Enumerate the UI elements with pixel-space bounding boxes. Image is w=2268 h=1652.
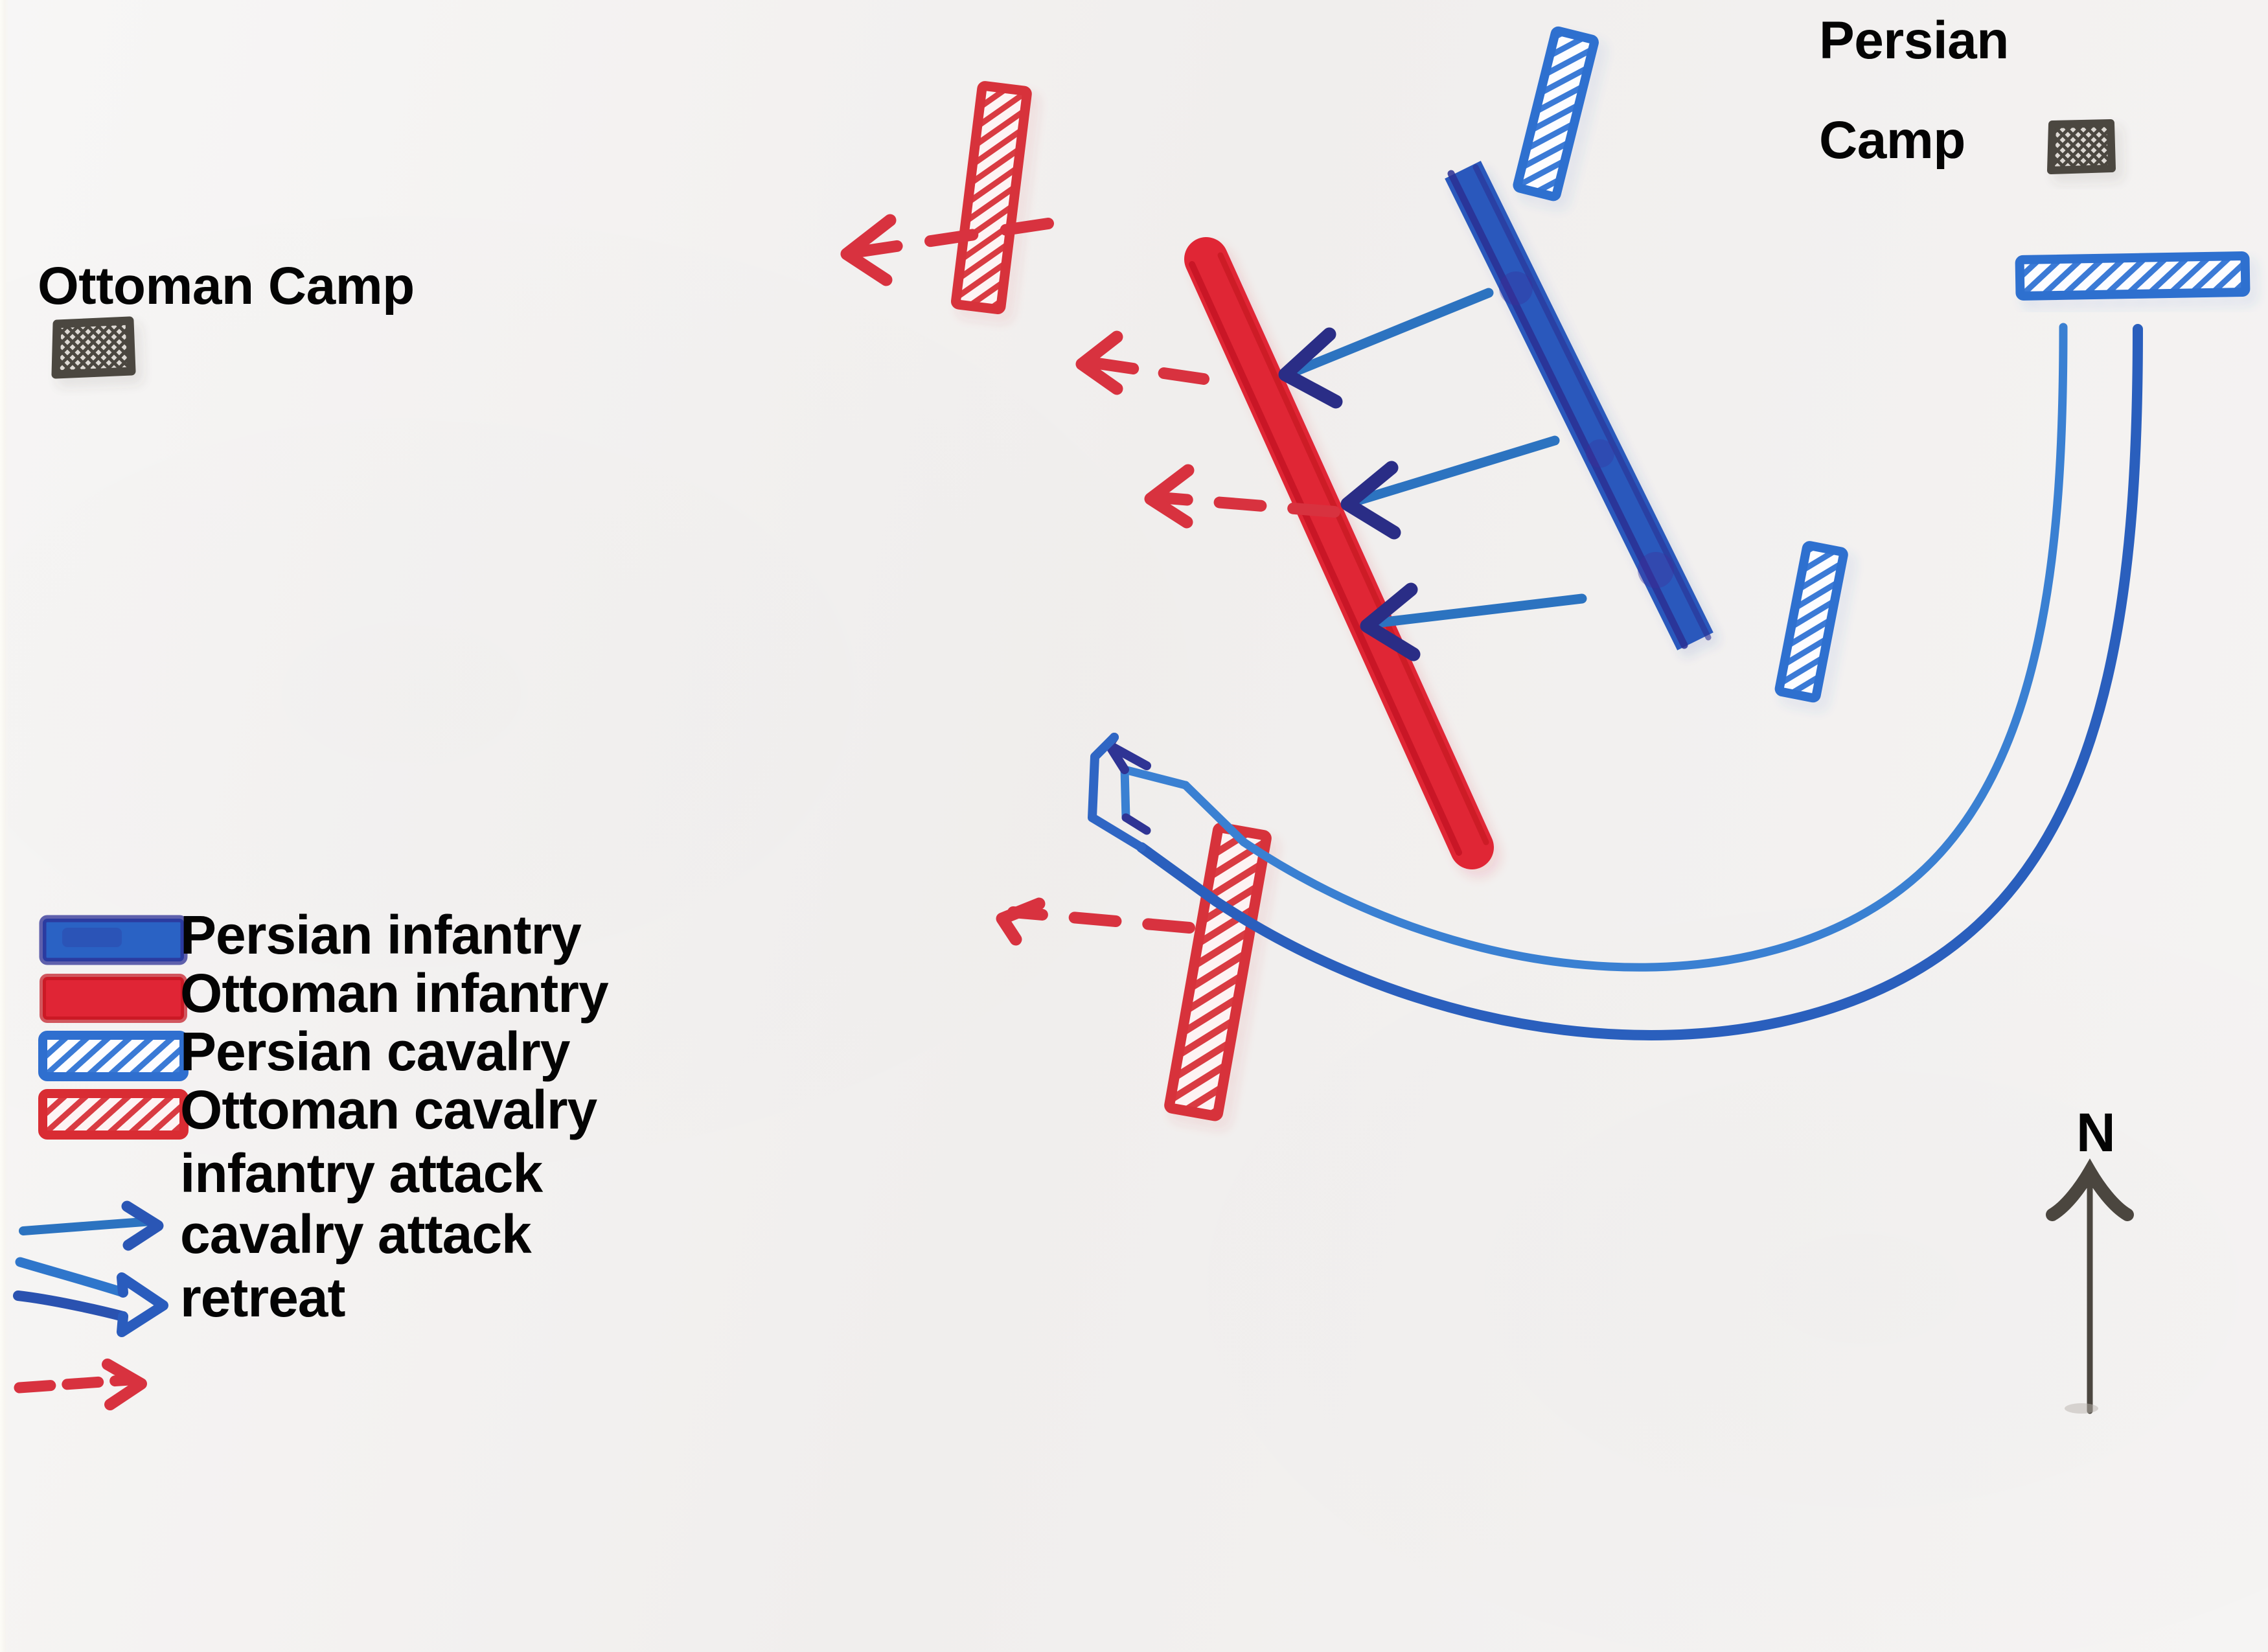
legend-icon-persian-infantry-swatch xyxy=(43,919,184,961)
persian-camp-marker xyxy=(2051,123,2112,170)
legend-icon-persian-cavalry-swatch xyxy=(43,1035,184,1077)
legend-icon-ottoman-infantry-swatch xyxy=(43,977,184,1020)
legend-label-infantry-attack: infantry attack xyxy=(180,1142,542,1205)
unit-ottoman-cavalry-south xyxy=(1169,827,1266,1117)
legend-symbols xyxy=(18,919,184,1405)
ottoman-camp-label: Ottoman Camp xyxy=(38,256,415,317)
legend-label-persian-cavalry: Persian cavalry xyxy=(180,1020,569,1083)
persian-camp-label-line2: Camp xyxy=(1819,110,1965,171)
map-drawing-layer xyxy=(0,0,2268,1652)
unit-ottoman-cavalry-north xyxy=(956,86,1027,310)
persian-camp-label-line1: Persian xyxy=(1819,10,2009,71)
north-arrow-icon xyxy=(2052,1171,2127,1414)
retreat-arrow-1 xyxy=(847,220,1048,280)
unit-persian-cavalry-mid xyxy=(1779,545,1844,698)
legend-label-cavalry-attack: cavalry attack xyxy=(180,1203,531,1266)
legend-icon-ottoman-cavalry-swatch xyxy=(43,1094,184,1135)
legend-label-ottoman-infantry: Ottoman infantry xyxy=(180,962,608,1025)
unit-persian-cavalry-north xyxy=(1517,30,1595,198)
legend-label-retreat: retreat xyxy=(180,1267,345,1329)
unit-ottoman-infantry-line xyxy=(1192,255,1486,853)
north-label: N xyxy=(2076,1101,2115,1164)
legend-label-persian-infantry: Persian infantry xyxy=(180,904,581,967)
unit-persian-cavalry-east xyxy=(2020,256,2246,296)
battle-map-canvas: Ottoman Camp Persian Camp N Persian infa… xyxy=(0,0,2268,1652)
legend-icon-cavalry-attack-arrow-icon xyxy=(18,1262,163,1332)
infantry-attack-arrow-3 xyxy=(1367,590,1582,654)
legend-icon-infantry-attack-arrow-icon xyxy=(23,1206,158,1245)
infantry-attack-arrow-2 xyxy=(1347,441,1555,533)
infantry-attack-arrow-1 xyxy=(1285,293,1489,402)
legend-label-ottoman-cavalry: Ottoman cavalry xyxy=(180,1079,597,1141)
retreat-arrow-4 xyxy=(1002,904,1189,939)
legend-icon-retreat-arrow-icon xyxy=(19,1364,141,1405)
retreat-arrow-2 xyxy=(1082,337,1204,389)
unit-persian-infantry-line xyxy=(1451,167,1708,645)
ottoman-camp-marker xyxy=(56,321,132,374)
